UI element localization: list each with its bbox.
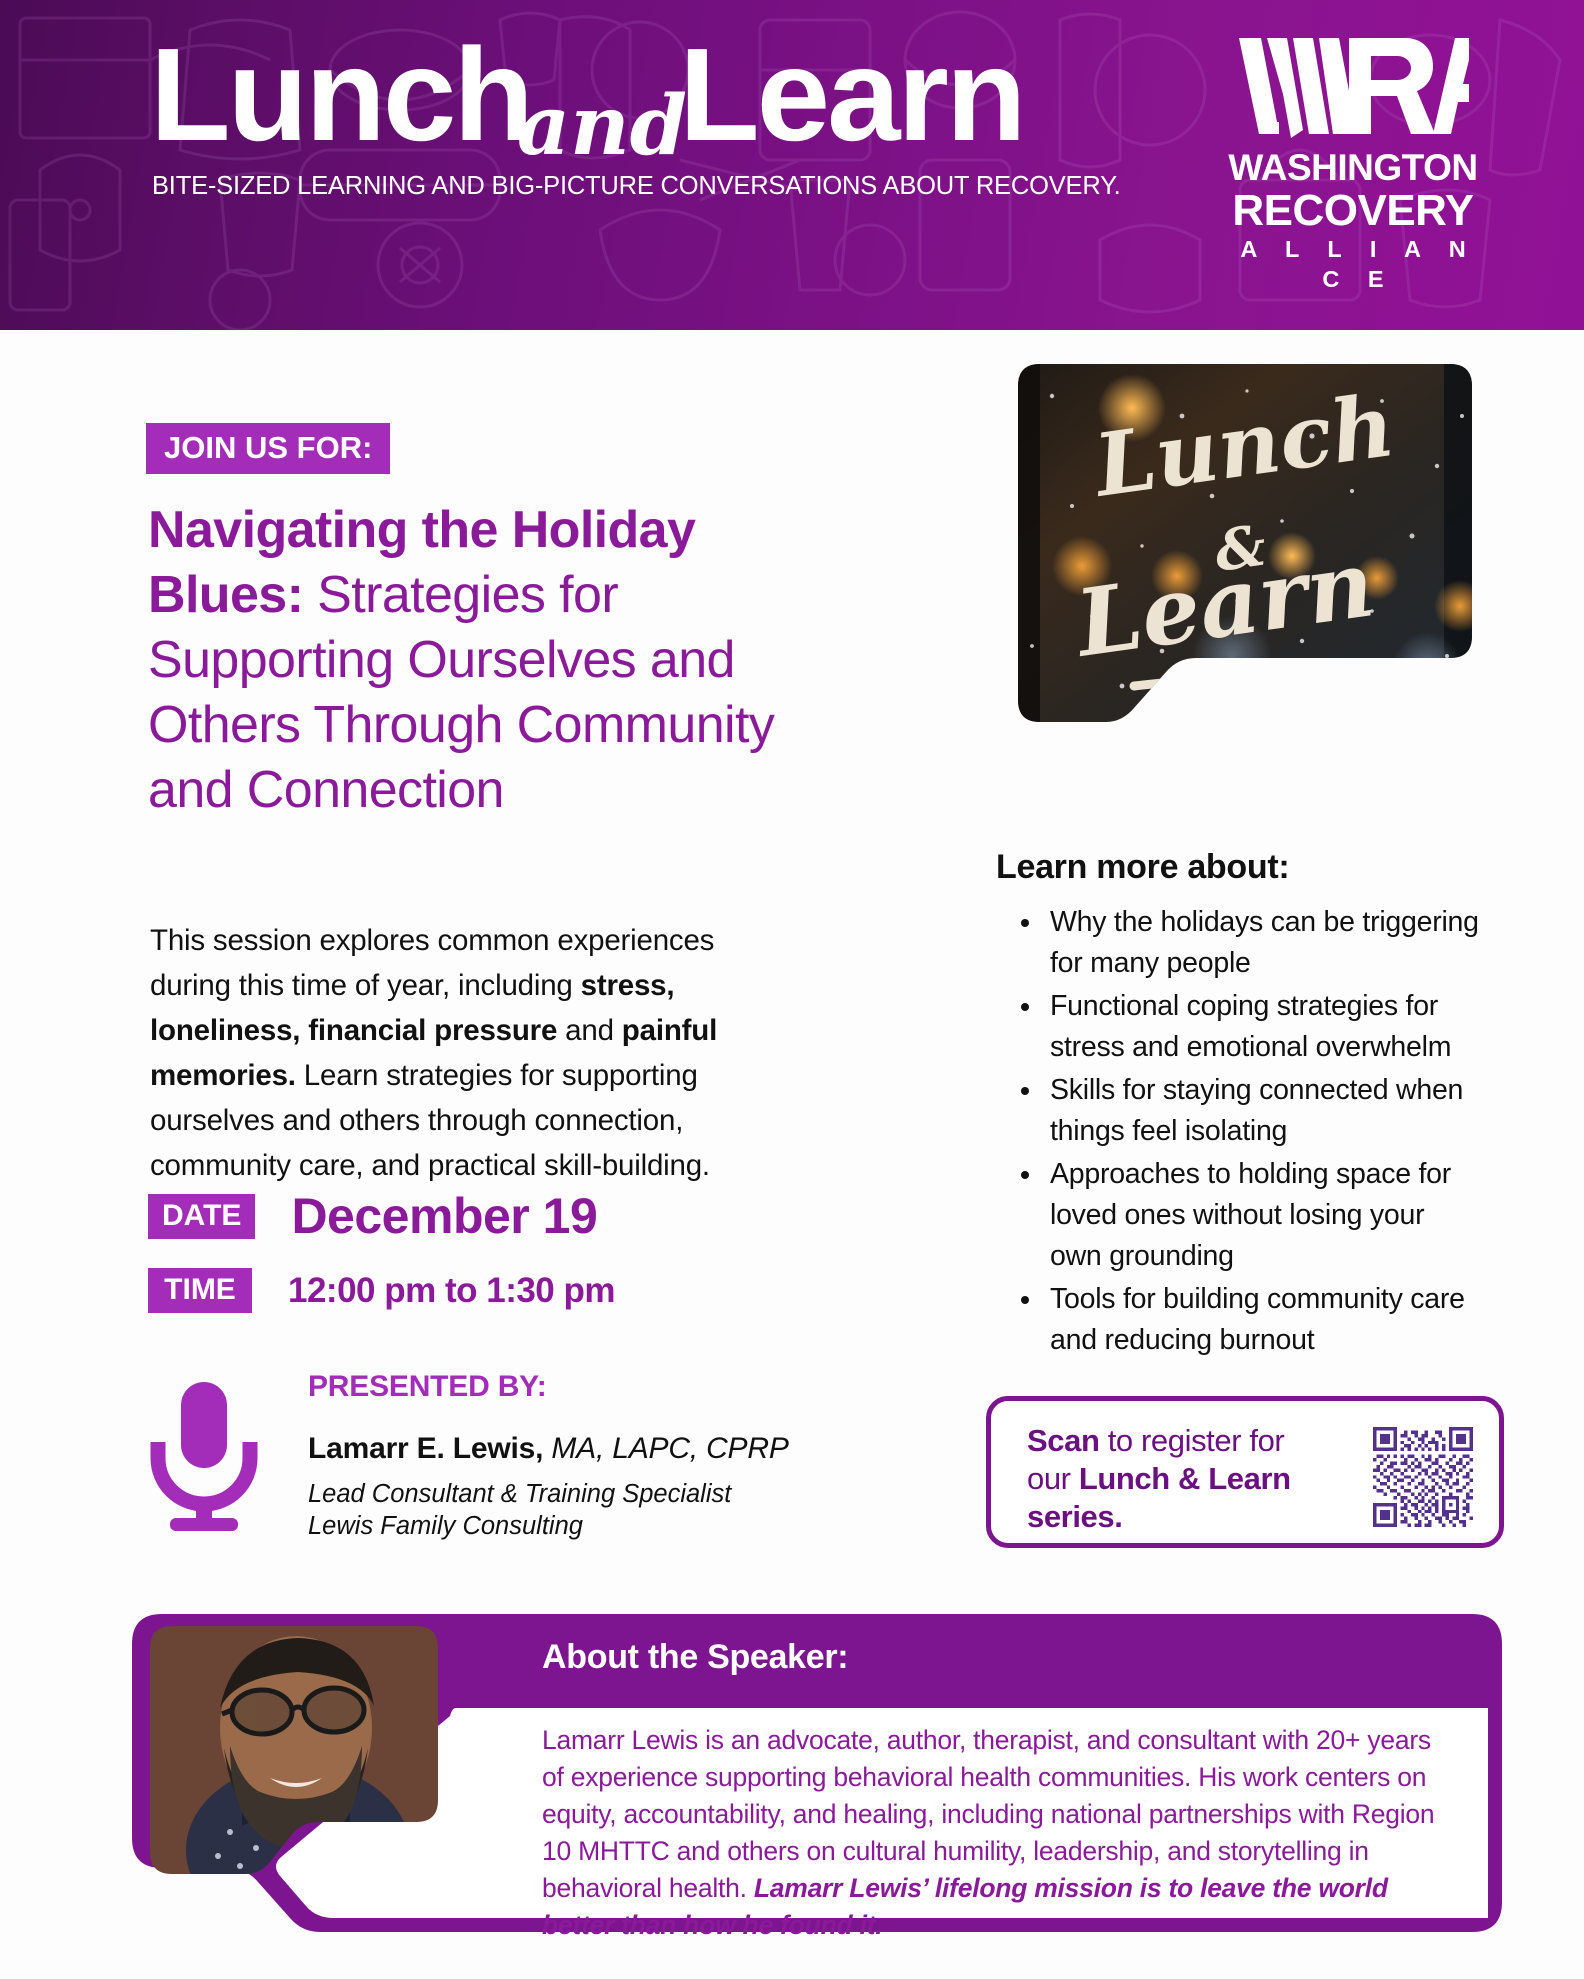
learn-more-list: Why the holidays can be triggering for m… [1012, 902, 1482, 1363]
presenter-role-line1: Lead Consultant & Training Specialist [308, 1478, 731, 1510]
list-item: Approaches to holding space for loved on… [1012, 1154, 1482, 1277]
list-item: Functional coping strategies for stress … [1012, 986, 1482, 1068]
about-speaker-heading: About the Speaker: [542, 1638, 848, 1677]
list-item: Why the holidays can be triggering for m… [1012, 902, 1482, 984]
date-label: DATE [148, 1194, 255, 1239]
wra-line-alliance: A L L I A N C E [1218, 234, 1488, 294]
list-item: Skills for staying connected when things… [1012, 1070, 1482, 1152]
time-value: 12:00 pm to 1:30 pm [288, 1272, 615, 1310]
banner-title: LunchandLearn [150, 22, 1180, 167]
wra-line-washington: WASHINGTON [1218, 148, 1488, 188]
presenter-role: Lead Consultant & Training Specialist Le… [308, 1478, 731, 1542]
about-speaker-body: Lamarr Lewis is an advocate, author, the… [542, 1722, 1452, 1944]
session-title: Navigating the Holiday Blues: Strategies… [148, 498, 788, 823]
time-row: TIME 12:00 pm to 1:30 pm [148, 1268, 615, 1313]
presenter-role-line2: Lewis Family Consulting [308, 1510, 731, 1542]
flyer-page: LunchandLearn BITE-SIZED LEARNING AND BI… [0, 0, 1584, 1979]
banner-title-and: and [517, 78, 687, 174]
session-description: This session explores common experiences… [150, 918, 790, 1188]
join-us-badge: JOIN US FOR: [146, 423, 390, 474]
about-speaker-section: About the Speaker: Lamarr Lewis is an ad… [120, 1600, 1505, 1945]
presenter-credentials: MA, LAPC, CPRP [543, 1432, 788, 1465]
header-banner: LunchandLearn BITE-SIZED LEARNING AND BI… [0, 0, 1584, 330]
learn-more-heading: Learn more about: [996, 848, 1289, 887]
desc-seg-2: and [557, 1014, 622, 1047]
time-label: TIME [148, 1268, 252, 1313]
date-row: DATE December 19 [148, 1190, 597, 1242]
list-item: Tools for building community care and re… [1012, 1279, 1482, 1361]
date-value: December 19 [291, 1190, 597, 1242]
hero-lunch-learn-sign-photo: Lunch & Learn [982, 356, 1502, 756]
scan-to-register-box[interactable]: Scan to register for our Lunch & Learn s… [986, 1396, 1504, 1548]
banner-title-lunch: Lunch [150, 21, 531, 168]
banner-title-learn: Learn [679, 21, 1023, 168]
presented-by-label: PRESENTED BY: [308, 1370, 547, 1404]
wra-line-recovery: RECOVERY [1218, 188, 1488, 234]
qr-code-icon[interactable] [1373, 1427, 1473, 1527]
wra-monogram-icon [1237, 34, 1469, 142]
banner-tagline: BITE-SIZED LEARNING AND BIG-PICTURE CONV… [152, 172, 1192, 201]
wra-logo: WASHINGTON RECOVERY A L L I A N C E [1218, 34, 1488, 294]
presenter-name-bold: Lamarr E. Lewis, [308, 1432, 543, 1465]
lunch-and-learn-wordmark: LunchandLearn BITE-SIZED LEARNING AND BI… [0, 0, 1220, 330]
scan-text: Scan to register for our Lunch & Learn s… [1027, 1422, 1317, 1536]
presenter-name: Lamarr E. Lewis, MA, LAPC, CPRP [308, 1432, 789, 1466]
scan-bold-scan: Scan [1027, 1423, 1100, 1458]
microphone-icon [148, 1380, 260, 1532]
